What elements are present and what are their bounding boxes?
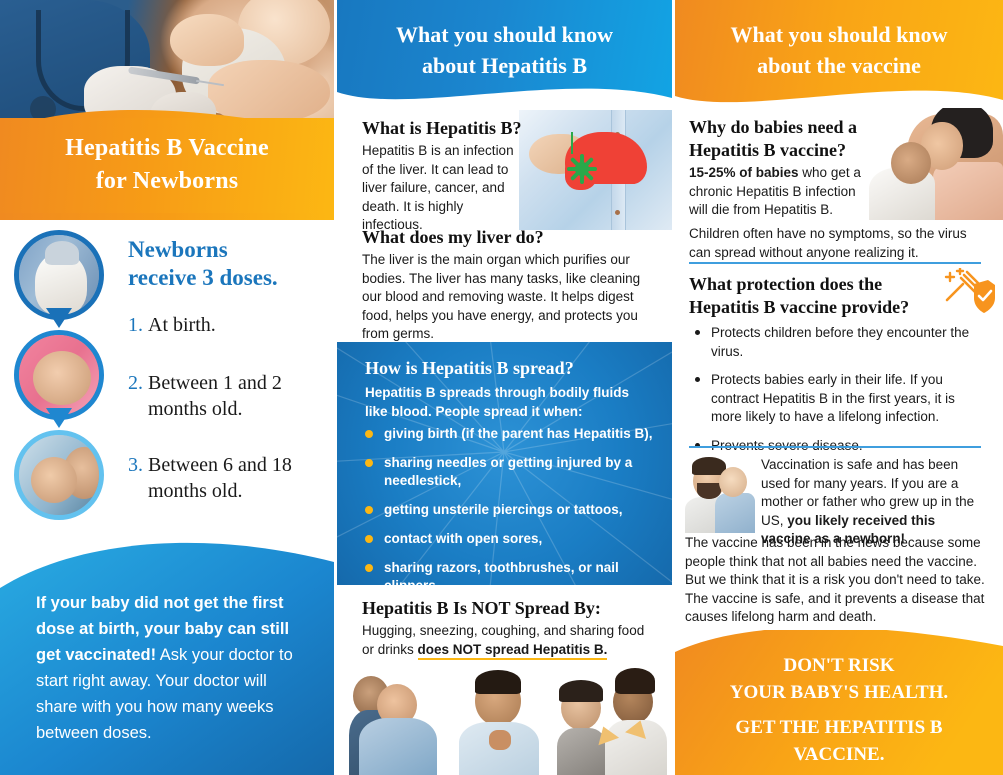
- right-header: What you should know about the vaccine: [675, 0, 1003, 112]
- not-spread-body-bold: does NOT spread Hepatitis B.: [418, 642, 608, 660]
- why-babies-need-heading: Why do babies need a Hepatitis B vaccine…: [689, 116, 869, 162]
- dose-number: 2.: [128, 372, 143, 394]
- liver-illustration-photo: [519, 110, 672, 230]
- middle-header: What you should know about Hepatitis B: [337, 0, 672, 112]
- cta-line1: DON'T RISK: [675, 652, 1003, 679]
- doses-heading-line1: Newborns: [128, 236, 328, 264]
- doses-schedule: Newborns receive 3 doses. 1. At birth. 2…: [0, 228, 334, 528]
- people-hugging-coughing-sharing-food-photo: [345, 665, 672, 775]
- what-does-liver-do-heading: What does my liver do?: [362, 227, 544, 248]
- why-babies-need-heading-line1: Why do babies need a: [689, 116, 869, 139]
- protection-heading: What protection does the Hepatitis B vac…: [689, 273, 944, 319]
- cta-line3: GET THE HEPATITIS B: [675, 714, 1003, 741]
- cta-panel: DON'T RISK YOUR BABY'S HEALTH. GET THE H…: [675, 630, 1003, 775]
- middle-header-line2: about Hepatitis B: [337, 50, 672, 81]
- syringe-shield-icon: [943, 268, 995, 314]
- dose-text: Between 1 and 2 months old.: [148, 370, 324, 422]
- cta-line2: YOUR BABY'S HEALTH.: [675, 679, 1003, 706]
- virus-icon: [567, 154, 597, 184]
- not-spread-heading: Hepatitis B Is NOT Spread By:: [362, 598, 601, 619]
- middle-header-line1: What you should know: [337, 19, 672, 50]
- why-babies-need-heading-line2: Hepatitis B vaccine?: [689, 139, 869, 162]
- how-spread-panel: How is Hepatitis B spread? Hepatitis B s…: [337, 342, 672, 585]
- how-spread-list: giving birth (if the parent has Hepatiti…: [365, 425, 665, 585]
- what-is-hepb-heading: What is Hepatitis B?: [362, 118, 522, 139]
- protection-heading-line2: Hepatitis B vaccine provide?: [689, 296, 944, 319]
- left-callout-text: If your baby did not get the first dose …: [36, 590, 304, 746]
- page-title-line1: Hepatitis B Vaccine: [0, 132, 334, 165]
- how-spread-intro: Hepatitis B spreads through bodily fluid…: [365, 383, 655, 421]
- divider: [689, 262, 981, 264]
- list-item: giving birth (if the parent has Hepatiti…: [365, 425, 665, 443]
- why-babies-need-body: 15-25% of babies who get a chronic Hepat…: [689, 164, 867, 220]
- protection-heading-line1: What protection does the: [689, 273, 944, 296]
- page-title-line2: for Newborns: [0, 165, 334, 198]
- dose-item: 2. Between 1 and 2 months old.: [128, 370, 333, 422]
- what-does-liver-do-body: The liver is the main organ which purifi…: [362, 251, 657, 344]
- dose-photo-infant: [14, 330, 104, 420]
- dose-text: At birth.: [148, 312, 324, 338]
- doses-heading-line2: receive 3 doses.: [128, 264, 328, 292]
- right-header-line1: What you should know: [675, 19, 1003, 50]
- list-item: sharing needles or getting injured by a …: [365, 454, 665, 490]
- dose-photo-newborn: [14, 230, 104, 320]
- divider: [689, 446, 981, 448]
- vaccine-news-body: The vaccine has been in the news because…: [685, 534, 985, 627]
- list-item: Protects children before they encounter …: [689, 324, 989, 361]
- middle-header-title: What you should know about Hepatitis B: [337, 19, 672, 81]
- page-title: Hepatitis B Vaccine for Newborns: [0, 132, 334, 198]
- doses-heading: Newborns receive 3 doses.: [128, 236, 328, 292]
- cta-line4: VACCINE.: [675, 741, 1003, 768]
- right-header-line2: about the vaccine: [675, 50, 1003, 81]
- how-spread-heading: How is Hepatitis B spread?: [365, 358, 574, 379]
- cta-text: DON'T RISK YOUR BABY'S HEALTH. GET THE H…: [675, 652, 1003, 768]
- right-column: What you should know about the vaccine W…: [675, 0, 1003, 775]
- right-header-title: What you should know about the vaccine: [675, 19, 1003, 81]
- infographic-page: Hepatitis B Vaccine for Newborns Newborn…: [0, 0, 1003, 775]
- list-item: Protects babies early in their life. If …: [689, 371, 989, 427]
- dose-item: 3. Between 6 and 18 months old.: [128, 452, 333, 504]
- protection-list: Protects children before they encounter …: [689, 324, 989, 465]
- left-column: Hepatitis B Vaccine for Newborns Newborn…: [0, 0, 334, 775]
- dose-photo-toddler: [14, 430, 104, 520]
- stat-percentage: 15-25% of babies: [689, 165, 799, 180]
- mother-holding-newborn-photo: [865, 108, 1003, 220]
- what-is-hepb-body: Hepatitis B is an infection of the liver…: [362, 142, 517, 235]
- list-item: getting unsterile piercings or tattoos,: [365, 501, 665, 519]
- dose-text: Between 6 and 18 months old.: [148, 452, 324, 504]
- father-holding-baby-photo: [685, 455, 755, 533]
- no-symptoms-body: Children often have no symptoms, so the …: [689, 225, 989, 262]
- not-spread-body: Hugging, sneezing, coughing, and sharing…: [362, 622, 652, 659]
- dose-item: 1. At birth.: [128, 312, 333, 338]
- middle-column: What you should know about Hepatitis B W…: [337, 0, 672, 775]
- left-callout-panel: If your baby did not get the first dose …: [0, 540, 334, 775]
- list-item: contact with open sores,: [365, 530, 665, 548]
- list-item: sharing razors, toothbrushes, or nail cl…: [365, 559, 665, 585]
- dose-number: 3.: [128, 454, 143, 476]
- dose-number: 1.: [128, 314, 143, 336]
